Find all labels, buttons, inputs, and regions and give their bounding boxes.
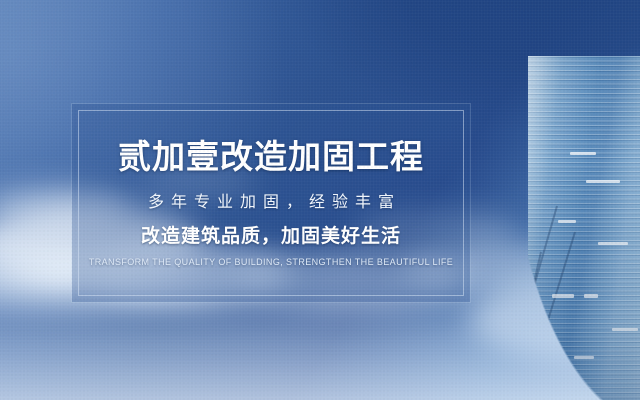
banner-subtitle: 多年专业加固，经验丰富	[141, 195, 401, 211]
banner-english-tagline: TRANSFORM THE QUALITY OF BUILDING, STREN…	[89, 258, 453, 267]
banner-tagline: 改造建筑品质，加固美好生活	[141, 227, 401, 246]
panel-content: 贰加壹改造加固工程 多年专业加固，经验丰富 改造建筑品质，加固美好生活 TRAN…	[72, 104, 470, 302]
hero-text-panel: 贰加壹改造加固工程 多年专业加固，经验丰富 改造建筑品质，加固美好生活 TRAN…	[72, 104, 470, 302]
building-shading	[528, 56, 640, 400]
banner-stage: 贰加壹改造加固工程 多年专业加固，经验丰富 改造建筑品质，加固美好生活 TRAN…	[0, 0, 640, 400]
page-title: 贰加壹改造加固工程	[118, 140, 424, 173]
skyscraper-image	[528, 56, 640, 400]
